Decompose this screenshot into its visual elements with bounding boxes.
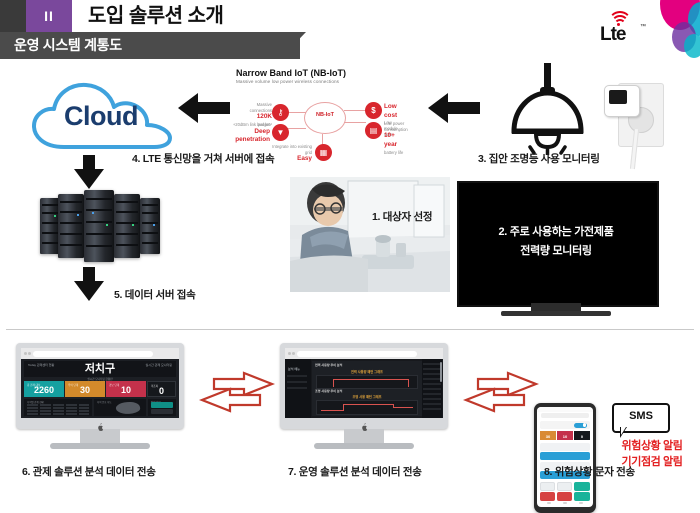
step-5-caption: 5. 데이터 서버 접속 [114, 287, 196, 302]
tv-monitor: 2. 주로 사용하는 가전제품 전력량 모니터링 [457, 181, 655, 319]
dashboard-meta-left: Today 관제센터 현황 [28, 363, 54, 368]
browser-url-bar[interactable] [33, 351, 153, 357]
server-rack-1 [40, 198, 60, 254]
server-rack-5 [140, 198, 160, 254]
nbiot-core-node: NB-IoT [304, 102, 346, 134]
dollar-icon: $ [365, 102, 382, 119]
page-title: 도입 솔루션 소개 [88, 1, 223, 32]
arrow-left-to-cloud [178, 91, 230, 125]
analytics-sidebar-label: 분석 메뉴 [288, 367, 300, 371]
decor-balloon-teal [684, 34, 700, 58]
sms-bubble-tail-inner [621, 427, 626, 435]
arrow-bidirectional-1 [198, 371, 276, 418]
tv-text-line2: 전력량 모니터링 [520, 242, 592, 261]
tv-stand-neck [531, 303, 581, 311]
plug-device-body [604, 85, 640, 117]
nbiot-feature-2-unit: battery life [384, 150, 403, 155]
server-rack-icon [38, 187, 166, 262]
gauge-bar-primary [151, 402, 173, 408]
apple-logo-icon [96, 419, 104, 427]
analytics-main-panel: 전력 사용량 추이 분석 전력 사용량 패턴 그래프 조명 사용량 추이 분석 … [312, 361, 422, 416]
table-row [27, 407, 89, 409]
slide-header: II 도입 솔루션 소개 [0, 0, 700, 32]
nbiot-subtitle: Massive volume low power wireless connec… [236, 79, 339, 84]
phone-status-bar [537, 407, 593, 412]
cloud-icon: Cloud [28, 79, 176, 153]
analytics-chart-1 [316, 375, 418, 389]
browser-chrome-bar[interactable] [21, 348, 179, 359]
nbiot-feature-3-value: Deep penetration [232, 128, 270, 145]
phone-toggle-row[interactable] [540, 421, 590, 429]
dashboard-meta-right: 실시간 관제 모니터링 [145, 363, 172, 368]
chip-icon: ▦ [315, 144, 332, 161]
scrollbar-thumb[interactable] [440, 362, 442, 382]
nbiot-connector-2 [344, 110, 366, 111]
kpi-card-3: 미조치 0 [147, 381, 176, 397]
browser-chrome-bar-center[interactable] [285, 348, 443, 359]
kpi-card-0: 총 관제 대상 2260 [24, 381, 64, 397]
table-row [27, 404, 89, 406]
section-banner-label: 운영 시스템 계통도 [14, 32, 122, 59]
imac-screen-left: 저치구 Today 관제센터 현황 실시간 관제 모니터링 실시간 모니터링 현… [21, 348, 179, 418]
phone-kpi-2: 0 [574, 431, 590, 440]
apple-logo-icon [360, 419, 368, 427]
nbiot-title: Narrow Band IoT (NB-IoT) [236, 68, 346, 78]
step-1-caption: 1. 대상자 선정 [372, 209, 432, 224]
analytics-chart1-caption: 전력 사용량 패턴 그래프 [312, 369, 422, 374]
analytics-chart2-caption: 조명 사용 패턴 그래프 [312, 394, 422, 399]
alert-line-1: 위험상황 알림 [606, 439, 698, 455]
tv-text-line1: 2. 주로 사용하는 가전제품 [498, 223, 613, 242]
table-row [27, 410, 89, 412]
phone-kpi-1: 10 [557, 431, 573, 440]
notification-toggle-switch[interactable] [574, 423, 587, 428]
imac-screen-center: 분석 메뉴 전력 사용 [285, 348, 443, 418]
section-banner-tail [280, 32, 306, 59]
smartphone-device[interactable]: 30 10 0 [534, 403, 596, 513]
server-rack-3 [84, 190, 114, 262]
dashboard-panel-gauge: 장비 상태 [148, 399, 176, 416]
phone-kpi-0: 30 [540, 431, 556, 440]
arrow-bidirectional-2 [462, 371, 540, 418]
phone-kpi-value-0: 30 [540, 434, 556, 439]
phone-url-bar[interactable] [541, 413, 589, 418]
imac-foot-center [314, 443, 414, 449]
kpi-card-1: 주의 단계 30 [65, 381, 105, 397]
nbiot-feature-0-value: 120K [234, 113, 272, 122]
nbiot-feature-4-value: Easy [268, 155, 312, 164]
phone-grid-btn-2[interactable] [557, 482, 572, 491]
server-rack-2 [58, 194, 84, 258]
analytics-right-column [422, 359, 442, 418]
panel-label-1: 지역 분포 지도 [97, 400, 112, 404]
nbiot-infographic: Narrow Band IoT (NB-IoT) Massive volume … [232, 66, 404, 162]
imac-analytics-dashboard[interactable]: 분석 메뉴 전력 사용 [280, 343, 448, 451]
analytics-dashboard: 분석 메뉴 전력 사용 [285, 348, 443, 418]
nbiot-core-label: NB-IoT [305, 112, 345, 118]
gauge-bar-secondary [151, 409, 173, 414]
nbiot-feature-4-label: Integrate into existing grid [272, 144, 312, 155]
nbiot-feature-2: Low power consumption 10+ year battery l… [384, 121, 406, 155]
kpi-card-2: 경보 단계 10 [106, 381, 146, 397]
server-rack-4 [114, 194, 140, 258]
signal-icon: ▼ [272, 124, 289, 141]
arrow-left-to-network [428, 91, 480, 125]
phone-action-button-1[interactable] [540, 452, 590, 460]
lte-logo: Lte ™ [600, 10, 656, 44]
header-dark-block [0, 0, 26, 32]
nbiot-feature-3-label: +20dBm link budget [233, 122, 270, 127]
cloud-label: Cloud [64, 101, 138, 132]
section-divider [6, 329, 694, 330]
region-map-shape [115, 400, 140, 415]
phone-grid-btn-3[interactable] [574, 482, 590, 491]
diagram-stage: Cloud Narrow Band IoT (NB-IoT) Massive v… [0, 59, 700, 492]
step-8-caption: 8. 위험상황 문자 전송 [544, 464, 635, 479]
imac-foot-left [50, 443, 150, 449]
sms-bubble-label: SMS [614, 405, 668, 427]
step-4-caption: 4. LTE 통신망을 거쳐 서버에 접속 [132, 151, 274, 166]
nbiot-feature-2-value: 10+ year [384, 132, 406, 149]
analytics-chart2-title: 조명 사용량 추이 분석 [315, 389, 342, 393]
tv-stand-base [501, 311, 611, 316]
smart-plug-icon [602, 77, 664, 169]
slide-number: II [26, 0, 72, 32]
nbiot-feature-4: Integrate into existing grid Easy [268, 144, 312, 164]
dashboard-panel-map: 지역 분포 지도 [94, 399, 146, 416]
step-3-caption: 3. 집안 조명등 사용 모니터링 [478, 151, 600, 166]
phone-kpi-value-1: 10 [557, 434, 573, 439]
nbiot-feature-0-label: Massive connections [250, 102, 272, 113]
phone-grid-btn-1[interactable] [540, 482, 555, 491]
nbiot-feature-2-label: Low power consumption [384, 121, 408, 132]
plug-display-screen [609, 90, 627, 104]
table-row [27, 413, 89, 415]
nbiot-feature-1-value: Low cost [384, 103, 406, 120]
analytics-chart1-title: 전력 사용량 추이 분석 [315, 363, 342, 367]
step-7-caption: 7. 운영 솔루션 분석 데이터 전송 [288, 464, 422, 479]
battery-icon: ▤ [365, 122, 382, 139]
kpi-value-3: 0 [148, 386, 175, 396]
analytics-chart-2 [316, 400, 418, 415]
tv-screen-text: 2. 주로 사용하는 가전제품 전력량 모니터링 [457, 181, 655, 303]
imac-control-dashboard[interactable]: 저치구 Today 관제센터 현황 실시간 관제 모니터링 실시간 모니터링 현… [16, 343, 184, 451]
kpi-value-0: 2260 [24, 385, 64, 395]
step-6-caption: 6. 관제 솔루션 분석 데이터 전송 [22, 464, 156, 479]
arrow-down-to-data [72, 267, 106, 306]
browser-url-bar-center[interactable] [297, 351, 417, 357]
phone-screen: 30 10 0 [537, 407, 593, 507]
kpi-value-2: 10 [106, 385, 146, 395]
network-icon: ⚷ [272, 104, 289, 121]
analytics-sidebar[interactable]: 분석 메뉴 [285, 359, 311, 418]
nbiot-feature-3: +20dBm link budget Deep penetration [232, 122, 270, 145]
phone-section-header-1 [540, 443, 590, 451]
control-dashboard: 저치구 Today 관제센터 현황 실시간 관제 모니터링 실시간 모니터링 현… [21, 348, 179, 418]
dashboard-panel-table: 지역별 관제 현황 [24, 399, 92, 416]
phone-nav-bar[interactable] [537, 500, 593, 506]
trademark-mark: ™ [640, 24, 646, 30]
lte-logo-text: Lte [600, 24, 626, 46]
nbiot-connector-3 [344, 122, 366, 123]
ceiling-lamp-icon [500, 63, 596, 155]
person-photo [290, 177, 450, 292]
kpi-value-1: 30 [65, 385, 105, 395]
phone-kpi-value-2: 0 [574, 434, 590, 439]
